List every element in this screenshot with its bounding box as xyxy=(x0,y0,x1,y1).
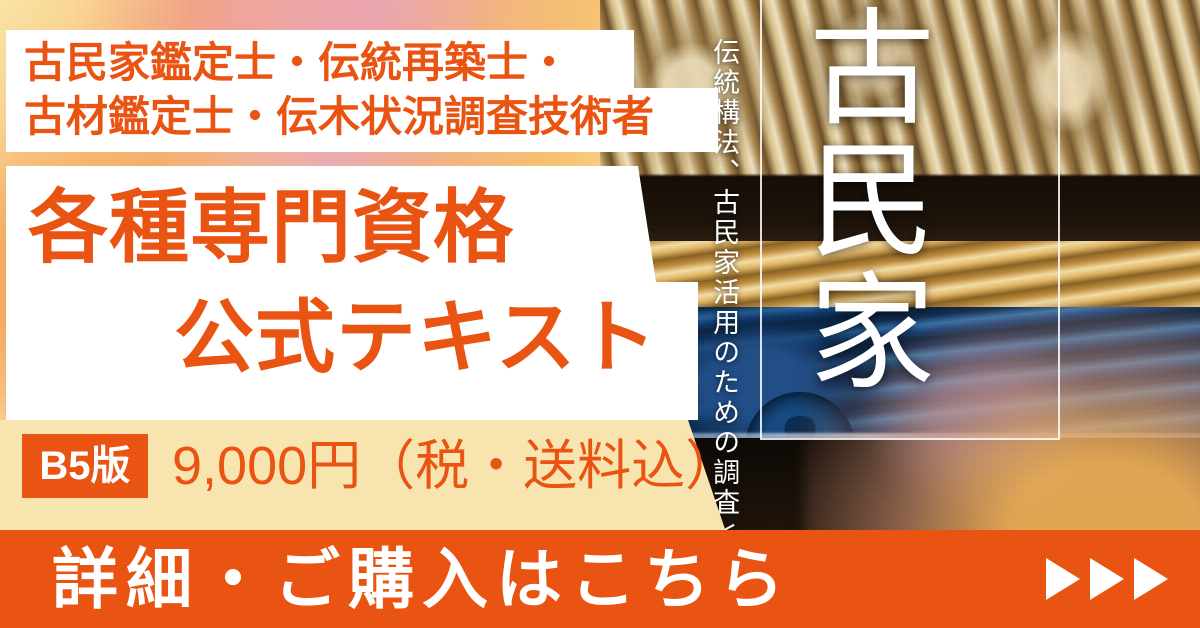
promotional-banner: 伝統構法、古民家活用のための調査と再生の 古民家 古民家鑑定士・伝統再築士・ 古… xyxy=(0,0,1200,628)
price-text: 9,000円（税・送料込） xyxy=(172,434,739,498)
chevron-right-icon xyxy=(1046,558,1080,600)
main-title-line-1: 各種専門資格 xyxy=(28,188,514,268)
book-cover-title: 古民家 xyxy=(792,2,932,398)
cta-bar[interactable]: 詳細・ご購入はこちら xyxy=(0,530,1200,628)
main-title-panel: 各種専門資格 公式テキスト xyxy=(6,166,698,420)
chevron-right-icon xyxy=(1090,558,1124,600)
cta-label: 詳細・ご購入はこちら xyxy=(52,546,792,612)
format-badge-label: B5版 xyxy=(39,446,130,486)
headline-line-2: 古材鑑定士・伝木状況調査技術者 xyxy=(24,96,654,138)
headline-panel: 古民家鑑定士・伝統再築士・ 古材鑑定士・伝木状況調査技術者 xyxy=(6,30,718,152)
cta-arrow-group xyxy=(1046,558,1168,600)
headline-line-1: 古民家鑑定士・伝統再築士・ xyxy=(24,42,570,84)
format-badge-b5: B5版 xyxy=(22,434,148,498)
chevron-right-icon xyxy=(1134,558,1168,600)
main-title-line-2: 公式テキスト xyxy=(174,298,658,378)
